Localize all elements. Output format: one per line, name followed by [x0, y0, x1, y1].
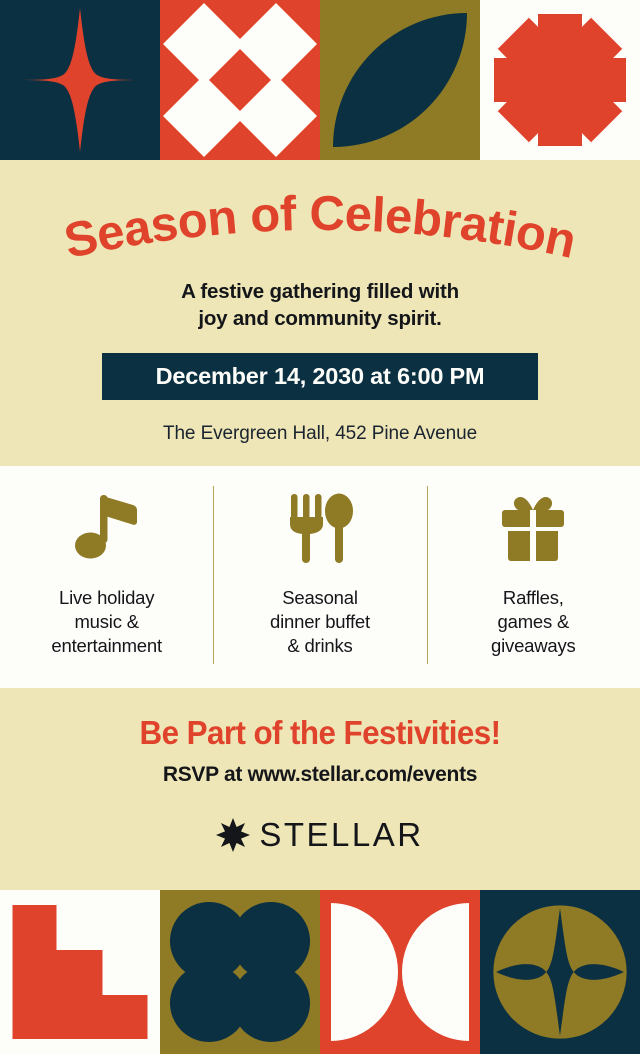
cta-section: Be Part of the Festivities! RSVP at www.… — [0, 688, 640, 890]
half-circle-shape — [331, 903, 398, 1041]
feature-item-dinner: Seasonal dinner buffet & drinks — [213, 466, 426, 688]
brand-logo-text: STELLAR — [259, 816, 423, 854]
decor-tile-diamond-grid — [160, 0, 320, 160]
eight-point-burst-icon — [494, 14, 626, 146]
diamond-shape — [163, 75, 245, 157]
features-section: Live holiday music & entertainment — [0, 466, 640, 688]
tagline-line-2: joy and community spirit. — [0, 305, 640, 332]
svg-text:Season of Celebration: Season of Celebration — [60, 187, 581, 269]
fork-and-spoon-icon — [287, 493, 353, 563]
diamond-shape — [235, 75, 317, 157]
date-time-banner: December 14, 2030 at 6:00 PM — [102, 353, 538, 400]
feature-item-raffles: Raffles, games & giveaways — [427, 466, 640, 688]
top-decorative-band — [0, 0, 640, 160]
descending-staircase-icon — [13, 905, 148, 1039]
feature-label-line-1: Live holiday — [51, 586, 162, 610]
brand-logo: STELLAR — [0, 816, 640, 854]
decor-tile-staircase — [0, 890, 160, 1054]
staircase-step — [13, 905, 57, 1039]
cta-heading: Be Part of the Festivities! — [16, 714, 624, 752]
feature-label-line-2: dinner buffet — [270, 610, 370, 634]
feature-icon-wrap — [75, 490, 139, 566]
staircase-step — [103, 995, 148, 1039]
half-circle-shape — [402, 903, 469, 1041]
tagline-line-1: A festive gathering filled with — [0, 278, 640, 305]
feature-icon-wrap — [287, 490, 353, 566]
feature-icon-wrap — [498, 490, 568, 566]
feature-label-line-3: giveaways — [491, 634, 576, 658]
circle-with-star-cutout-icon — [492, 904, 628, 1040]
feature-label-raffles: Raffles, games & giveaways — [485, 586, 582, 658]
feature-label-music: Live holiday music & entertainment — [45, 586, 168, 658]
decor-tile-burst — [480, 0, 640, 160]
event-poster: Season of Celebration A festive gatherin… — [0, 0, 640, 1054]
page-title: Season of Celebration — [0, 178, 640, 274]
bottom-decorative-band — [0, 890, 640, 1054]
diamond-shape — [163, 3, 245, 85]
decor-tile-half-circles — [320, 890, 480, 1054]
feature-label-line-3: & drinks — [270, 634, 370, 658]
feature-label-line-2: music & — [51, 610, 162, 634]
page-title-text: Season of Celebration — [60, 187, 581, 269]
diamond-grid-icon — [173, 13, 307, 147]
feature-item-music: Live holiday music & entertainment — [0, 466, 213, 688]
facing-half-circles-icon — [331, 903, 469, 1041]
diamond-shape — [235, 3, 317, 85]
music-note-icon — [75, 491, 139, 565]
feature-label-line-3: entertainment — [51, 634, 162, 658]
eight-point-star-logo-icon — [216, 818, 250, 852]
gift-box-icon — [498, 493, 568, 563]
four-point-sparkle-icon — [5, 5, 155, 155]
decor-tile-sparkle — [0, 0, 160, 160]
staircase-step — [57, 950, 103, 1039]
leaf-shape — [333, 13, 467, 147]
feature-label-line-1: Seasonal — [270, 586, 370, 610]
rsvp-text: RSVP at www.stellar.com/events — [0, 763, 640, 787]
decor-tile-star-circle — [480, 890, 640, 1054]
decor-tile-quatrefoil — [160, 890, 320, 1054]
tagline: A festive gathering filled with joy and … — [0, 278, 640, 332]
feature-label-line-2: games & — [491, 610, 576, 634]
feature-label-line-1: Raffles, — [491, 586, 576, 610]
quatrefoil-icon — [170, 902, 310, 1042]
leaf-lens-icon — [333, 13, 467, 147]
quatrefoil-lobe — [232, 964, 310, 1042]
venue-text: The Evergreen Hall, 452 Pine Avenue — [0, 423, 640, 445]
hero-section: Season of Celebration A festive gatherin… — [0, 160, 640, 466]
feature-label-dinner: Seasonal dinner buffet & drinks — [264, 586, 376, 658]
date-time-text: December 14, 2030 at 6:00 PM — [156, 363, 485, 390]
decor-tile-leaf — [320, 0, 480, 160]
